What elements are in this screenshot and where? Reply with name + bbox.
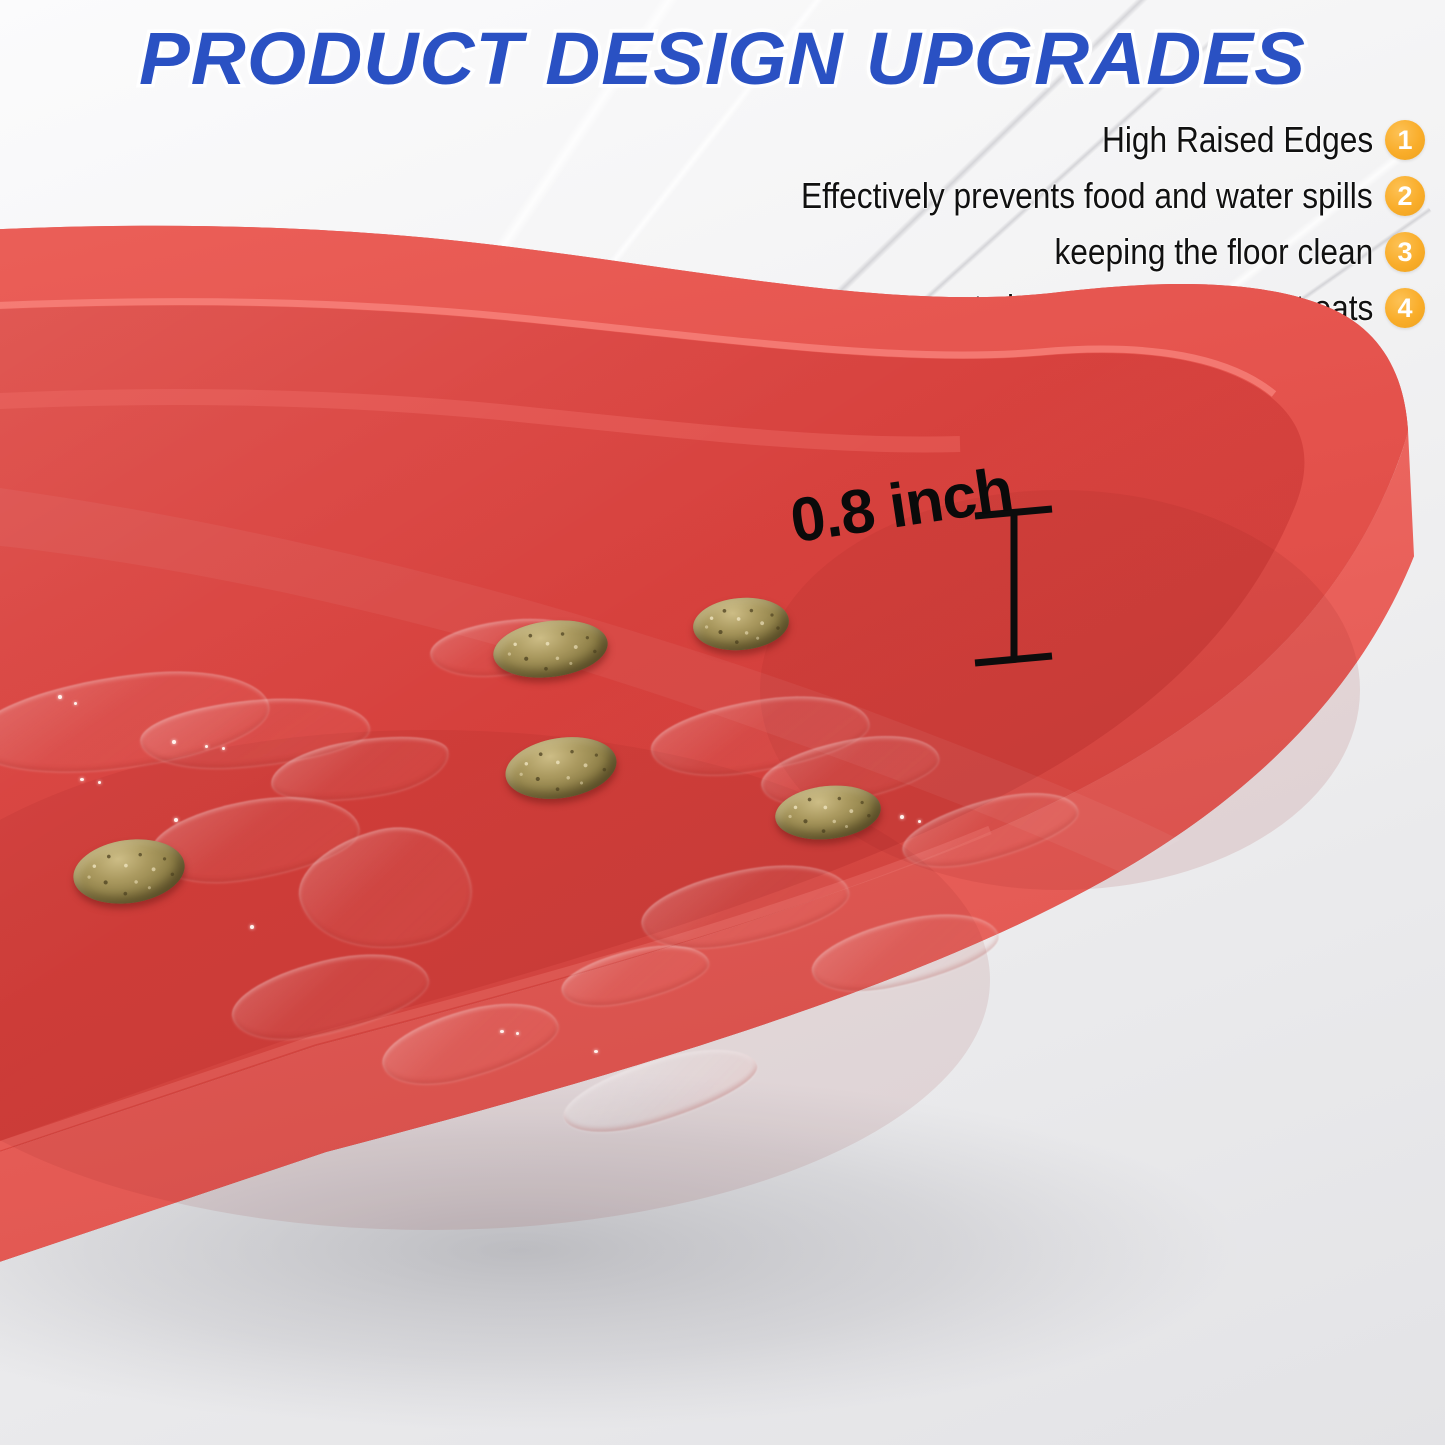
water-specular-highlight bbox=[594, 1050, 598, 1053]
feature-label-1: High Raised Edges bbox=[1102, 119, 1373, 161]
kibble-piece bbox=[69, 833, 189, 911]
water-spill bbox=[635, 852, 854, 959]
water-specular-highlight bbox=[172, 740, 176, 744]
feature-item-3: keeping the floor clean 3 bbox=[525, 230, 1425, 274]
feature-label-3: keeping the floor clean bbox=[1054, 231, 1373, 273]
mat-floor-sheen bbox=[0, 226, 1408, 1172]
water-specular-highlight bbox=[918, 820, 921, 823]
feature-item-4: Minimizes time spent cleaning after your… bbox=[525, 286, 1425, 330]
water-specular-highlight bbox=[250, 925, 254, 929]
water-specular-highlight bbox=[500, 1030, 504, 1033]
feature-number-badge-3: 3 bbox=[1385, 232, 1425, 272]
mat-upper-crease bbox=[0, 397, 960, 444]
water-spill bbox=[225, 940, 436, 1052]
feature-list: High Raised Edges 1 Effectively prevents… bbox=[525, 118, 1425, 342]
feature-label-4: Minimizes time spent cleaning after your… bbox=[686, 287, 1373, 329]
kibble-piece bbox=[773, 781, 884, 845]
mat-floor-shading bbox=[0, 730, 990, 1230]
water-spill bbox=[805, 901, 1004, 1003]
mat-top-rim bbox=[0, 430, 1414, 1282]
water-specular-highlight bbox=[98, 781, 101, 784]
water-specular-highlight bbox=[80, 778, 84, 781]
kibble-piece bbox=[490, 614, 611, 684]
feature-item-2: Effectively prevents food and water spil… bbox=[525, 174, 1425, 218]
water-spill bbox=[896, 779, 1085, 879]
kibble-piece bbox=[691, 594, 791, 654]
feature-number-badge-4: 4 bbox=[1385, 288, 1425, 328]
mat-floor bbox=[0, 226, 1408, 1172]
water-spill bbox=[375, 989, 566, 1097]
water-spill bbox=[428, 613, 592, 681]
product-marketing-image: PRODUCT DESIGN UPGRADES High Raised Edge… bbox=[0, 0, 1445, 1445]
feature-number-badge-2: 2 bbox=[1385, 176, 1425, 216]
water-specular-highlight bbox=[900, 815, 904, 819]
feature-number-badge-1: 1 bbox=[1385, 120, 1425, 160]
water-spill bbox=[556, 935, 713, 1015]
water-spill bbox=[266, 725, 453, 813]
water-spill bbox=[646, 685, 874, 785]
water-specular-highlight bbox=[74, 702, 77, 705]
water-specular-highlight bbox=[58, 695, 62, 699]
dimension-cap-top bbox=[975, 509, 1052, 516]
kibble-piece bbox=[501, 730, 621, 807]
water-spill bbox=[146, 786, 365, 892]
water-specular-highlight bbox=[222, 747, 225, 750]
water-specular-highlight bbox=[205, 745, 208, 748]
water-spill bbox=[0, 661, 274, 784]
mat-outer-wall bbox=[0, 540, 1414, 1282]
page-title: PRODUCT DESIGN UPGRADES bbox=[0, 16, 1445, 101]
dimension-label: 0.8 inch bbox=[786, 454, 1017, 557]
mat-floor-highlight bbox=[0, 480, 1180, 872]
mat-cast-shadow bbox=[0, 1070, 1240, 1430]
water-spill bbox=[288, 811, 482, 969]
water-spill bbox=[756, 725, 944, 815]
mat-inner-wall bbox=[0, 226, 1408, 1172]
mat-floor-shading-right bbox=[760, 490, 1360, 890]
mat-front-crease bbox=[0, 830, 990, 1166]
water-spill bbox=[556, 1034, 765, 1147]
water-specular-highlight bbox=[516, 1032, 519, 1035]
feature-label-2: Effectively prevents food and water spil… bbox=[801, 175, 1373, 217]
feature-item-1: High Raised Edges 1 bbox=[525, 118, 1425, 162]
dimension-marker-ibeam bbox=[975, 509, 1052, 663]
water-specular-highlight bbox=[174, 818, 178, 822]
water-spill bbox=[138, 692, 372, 774]
dimension-cap-bottom bbox=[975, 656, 1052, 663]
